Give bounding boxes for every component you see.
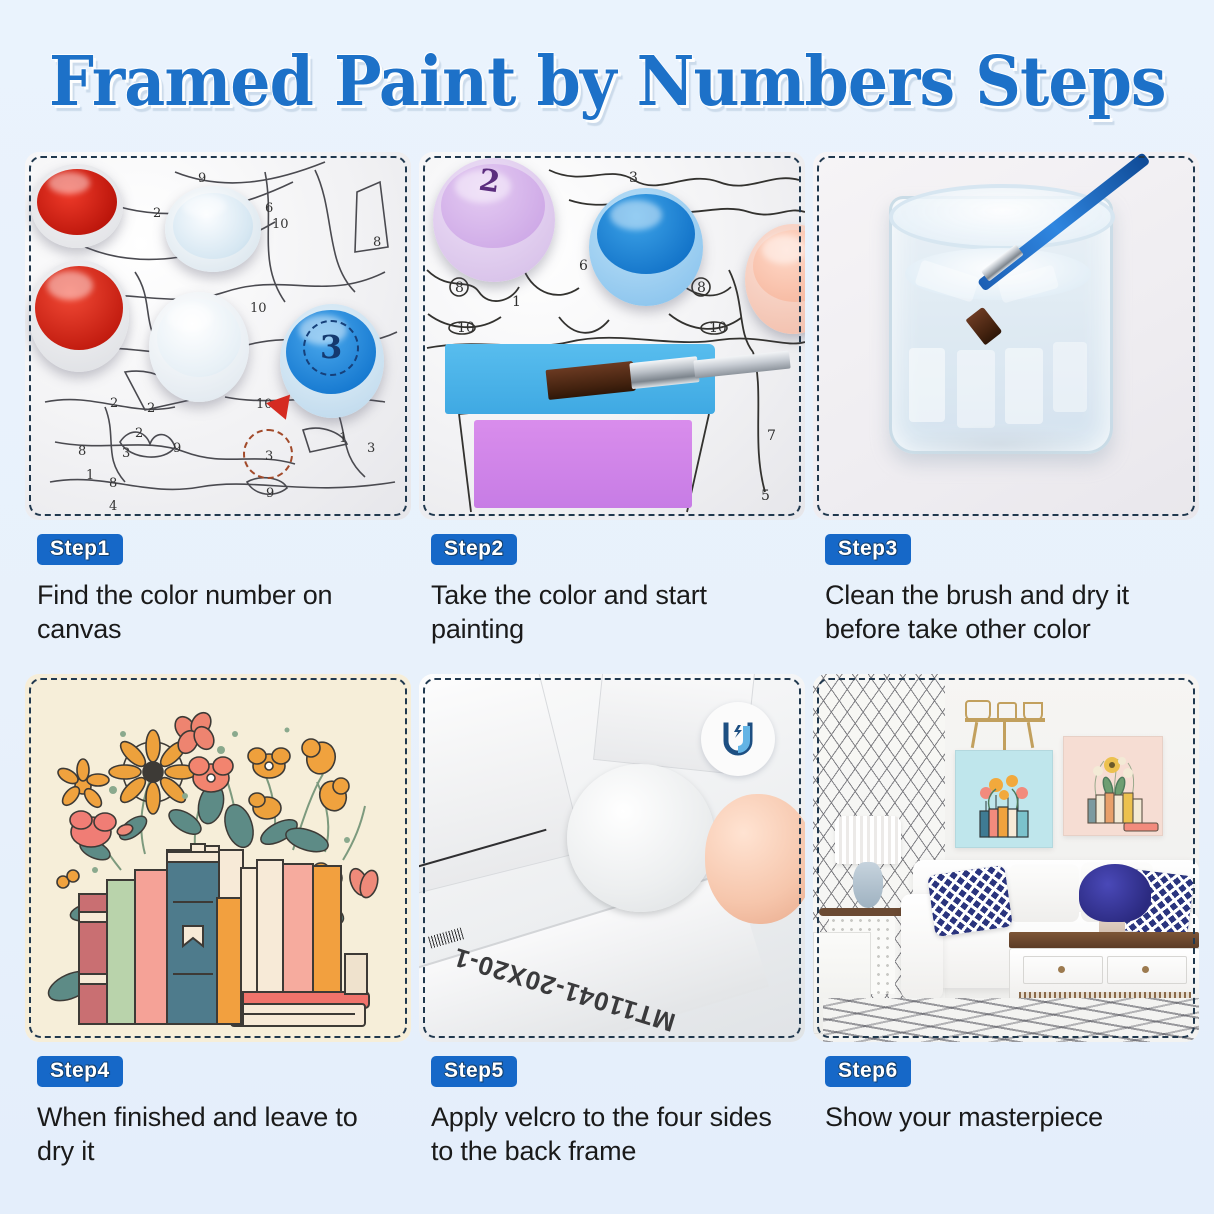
step-image-6 (813, 674, 1199, 1042)
drawer-knob-2 (1142, 966, 1149, 973)
page-title-text: Framed Paint by Numbers Steps (49, 42, 1166, 122)
step-card-1: 9 2 6 10 8 10 2 2 2 10 1 3 8 (25, 152, 411, 646)
svg-text:8: 8 (697, 280, 706, 296)
magnet-badge (701, 702, 775, 776)
svg-text:3: 3 (629, 170, 638, 186)
step-badge-2: Step2 (431, 534, 517, 565)
svg-text:10: 10 (272, 217, 289, 232)
step-image-1: 9 2 6 10 8 10 2 2 2 10 1 3 8 (25, 152, 411, 520)
step-card-3: Step3 Clean the brush and dry it before … (813, 152, 1199, 646)
svg-text:1: 1 (339, 431, 347, 446)
blue-flowers (1079, 864, 1151, 922)
decor-cup (1023, 702, 1043, 722)
step-badge-6: Step6 (825, 1056, 911, 1087)
pillow-left (927, 865, 1013, 937)
step-badge-3: Step3 (825, 534, 911, 565)
highlight-circle (243, 429, 293, 479)
svg-text:3: 3 (122, 446, 130, 461)
framed-art-left (955, 750, 1053, 848)
step-badge-5: Step5 (431, 1056, 517, 1087)
step-caption-3: Step3 Clean the brush and dry it before … (813, 520, 1199, 646)
step-description-3: Clean the brush and dry it before take o… (825, 578, 1189, 646)
svg-text:10: 10 (250, 301, 267, 316)
svg-text:9: 9 (266, 486, 274, 501)
step-image-2: 8 1 6 8 10 10 7 5 3 (419, 152, 805, 520)
decor-jar (997, 702, 1017, 722)
drawer-knob-1 (1058, 966, 1065, 973)
paint-pot-red-bottom (29, 260, 129, 372)
step-description-4: When finished and leave to dry it (37, 1100, 401, 1168)
step-card-2: 8 1 6 8 10 10 7 5 3 (419, 152, 805, 646)
svg-text:1: 1 (86, 468, 94, 483)
paint-pot-pale-blue (165, 186, 261, 272)
svg-text:7: 7 (767, 428, 776, 444)
svg-text:9: 9 (173, 441, 181, 456)
svg-text:2: 2 (153, 206, 161, 221)
step-card-5: MT11041-20X20-1 Step5 Apply velc (419, 674, 805, 1168)
pot-number-label: 3 (320, 328, 342, 366)
step-caption-4: Step4 When finished and leave to dry it (25, 1042, 411, 1168)
step-image-5: MT11041-20X20-1 (419, 674, 805, 1042)
svg-text:2: 2 (147, 401, 155, 416)
step-description-5: Apply velcro to the four sides to the ba… (431, 1100, 795, 1168)
step-card-6: Step6 Show your masterpiece (813, 674, 1199, 1168)
sofa-cushion-1 (1009, 864, 1079, 922)
step-badge-1: Step1 (37, 534, 123, 565)
svg-text:8: 8 (78, 444, 86, 459)
paint-pot-red-top (31, 164, 123, 248)
step-image-4 (25, 674, 411, 1042)
svg-text:5: 5 (761, 488, 770, 504)
paint-pot-purple: 2 (433, 158, 555, 282)
svg-text:9: 9 (198, 171, 206, 186)
coffee-table-top (1009, 932, 1199, 948)
glass-base-shadow (899, 424, 1099, 464)
step-caption-5: Step5 Apply velcro to the four sides to … (419, 1042, 805, 1168)
svg-text:8: 8 (109, 476, 117, 491)
magnet-icon (716, 717, 760, 761)
side-table (819, 908, 905, 916)
svg-text:3: 3 (367, 441, 375, 456)
books-and-flowers-illustration (25, 674, 411, 1042)
finger (705, 794, 805, 924)
svg-text:4: 4 (109, 499, 117, 514)
step-caption-2: Step2 Take the color and start painting (419, 520, 805, 646)
lamp-shade (835, 816, 901, 864)
step-caption-6: Step6 Show your masterpiece (813, 1042, 1199, 1134)
step-card-4: Step4 When finished and leave to dry it (25, 674, 411, 1168)
rug (823, 998, 1199, 1042)
svg-text:8: 8 (373, 235, 381, 250)
svg-text:2: 2 (135, 426, 143, 441)
step-badge-4: Step4 (37, 1056, 123, 1087)
svg-text:8: 8 (455, 280, 464, 296)
decor-teapot (965, 700, 991, 722)
page-title: Framed Paint by Numbers Steps (0, 42, 1214, 132)
step-description-6: Show your masterpiece (825, 1100, 1189, 1134)
hook-2 (1003, 722, 1006, 750)
svg-text:6: 6 (579, 258, 588, 274)
step-image-3 (813, 152, 1199, 520)
lamp-base (853, 862, 883, 908)
velcro-dot (567, 764, 715, 912)
steps-grid: 9 2 6 10 8 10 2 2 2 10 1 3 8 (25, 152, 1190, 1168)
paint-pot-blue (589, 188, 703, 306)
svg-text:6: 6 (265, 201, 273, 216)
purple-paint-swatch (474, 420, 692, 508)
framed-art-right (1063, 736, 1163, 836)
svg-text:1: 1 (512, 294, 521, 310)
glass-rim (889, 184, 1115, 250)
step-description-2: Take the color and start painting (431, 578, 795, 646)
svg-text:2: 2 (110, 396, 118, 411)
paint-pot-white (149, 292, 249, 402)
step-description-1: Find the color number on canvas (37, 578, 401, 646)
step-caption-1: Step1 Find the color number on canvas (25, 520, 411, 646)
poster-root: Framed Paint by Numbers Steps (0, 0, 1214, 1214)
